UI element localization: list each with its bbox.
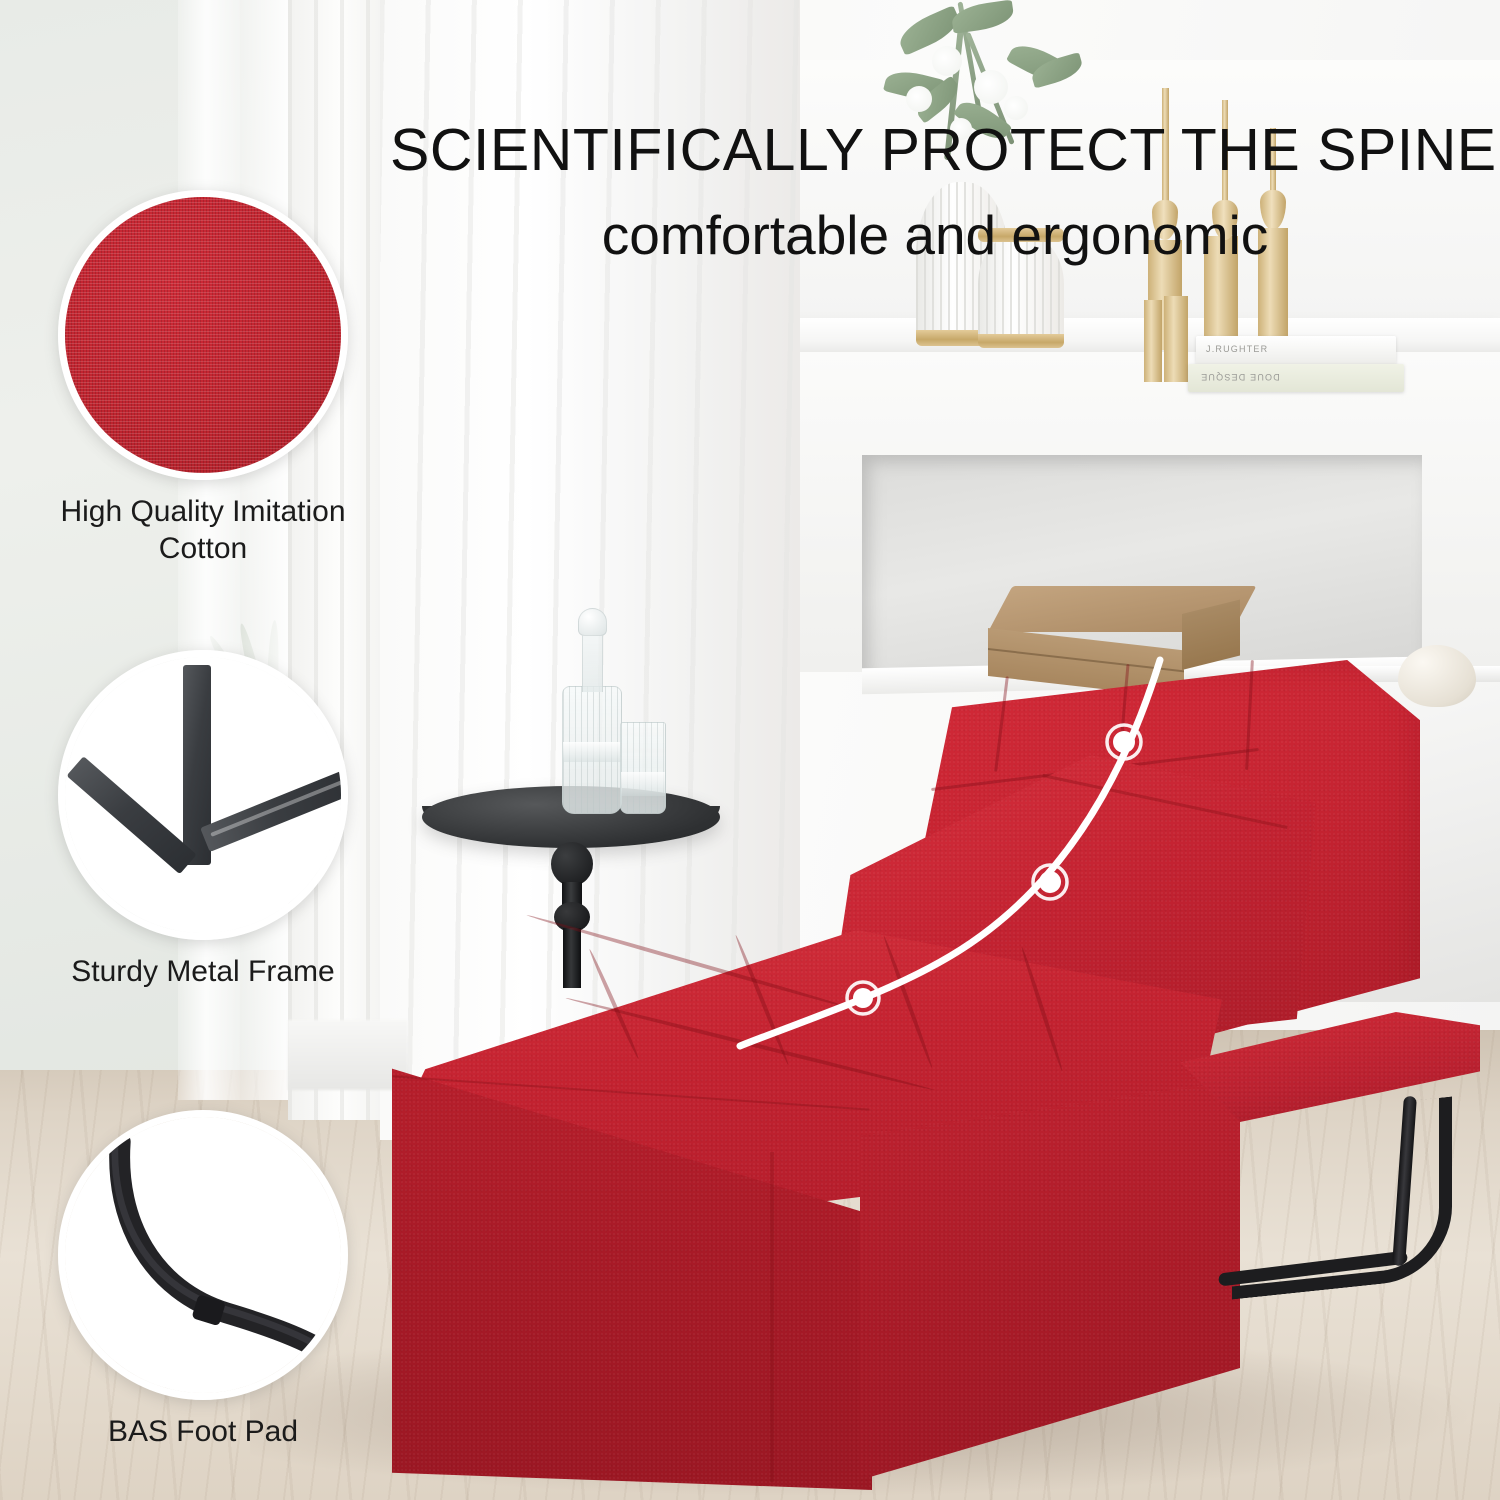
headline-block: SCIENTIFICALLY PROTECT THE SPINE comfort…: [390, 118, 1480, 270]
feature-label-footpad-line1: BAS Foot Pad: [33, 1414, 373, 1451]
feature-label-frame-line1: Sturdy Metal Frame: [33, 954, 373, 991]
feature-callout-frame: Sturdy Metal Frame: [33, 650, 373, 991]
fabric-swatch-icon: [58, 190, 348, 480]
feature-label-footpad: BAS Foot Pad: [33, 1414, 373, 1451]
feature-callout-footpad: BAS Foot Pad: [33, 1110, 373, 1451]
feature-label-fabric-line2: Cotton: [33, 531, 373, 568]
feature-label-fabric: High Quality Imitation Cotton: [33, 494, 373, 567]
spine-dot-core: [1113, 731, 1135, 753]
spine-curve-line: [740, 660, 1160, 1046]
feature-label-frame: Sturdy Metal Frame: [33, 954, 373, 991]
metal-frame-icon: [58, 650, 348, 940]
spine-curve-dots: [847, 725, 1141, 1014]
product-marketing-image: J.RUGHTER DOUE DESQUE: [0, 0, 1500, 1500]
feature-callout-fabric: High Quality Imitation Cotton: [33, 190, 373, 567]
spine-dot-core: [1039, 871, 1061, 893]
feature-label-fabric-line1: High Quality Imitation: [33, 494, 373, 531]
headline-secondary: comfortable and ergonomic: [390, 201, 1480, 270]
spine-dot-core: [853, 988, 873, 1008]
foot-pad-icon: [58, 1110, 348, 1400]
headline-primary: SCIENTIFICALLY PROTECT THE SPINE: [390, 118, 1480, 183]
